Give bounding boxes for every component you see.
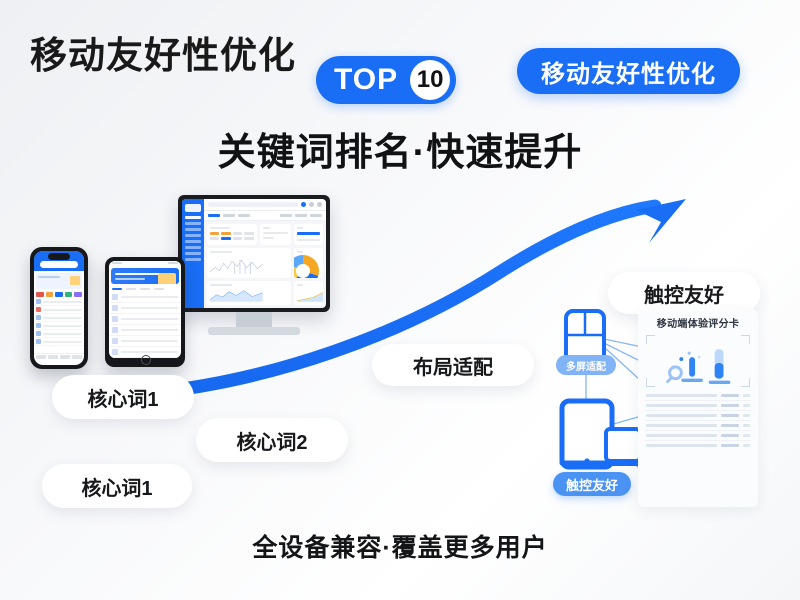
score-card-illustration <box>646 335 750 387</box>
page-title: 移动友好性优化 <box>30 25 296 79</box>
dashboard-card <box>294 224 323 245</box>
top-rank-badge: TOP 10 <box>316 56 456 104</box>
phone-search-bar <box>40 261 78 268</box>
dashboard-filterbar <box>204 211 326 221</box>
dashboard-area-card <box>294 281 323 305</box>
tablet-banner <box>111 268 179 284</box>
dashboard-chart-card <box>207 248 291 278</box>
phone-icon-row <box>34 291 84 298</box>
score-card-row <box>645 421 751 431</box>
footer-tagline: 全设备兼容·覆盖更多用户 <box>0 528 800 564</box>
score-card-row <box>645 431 751 441</box>
monitor-stand-neck <box>236 312 272 328</box>
tablet-device-icon <box>105 257 185 367</box>
mobile-adaptation-diagram: 多屏适配 触控友好 移动端体验评分卡 <box>548 305 760 515</box>
mobile-score-card: 移动端体验评分卡 <box>638 309 758 507</box>
dashboard-donut-card <box>294 248 323 278</box>
phone-tabbar <box>34 353 84 365</box>
phone-notch <box>48 253 70 260</box>
keyword-pill-1: 核心词1 <box>52 375 194 419</box>
keyword-pill-3: 核心词1 <box>42 464 192 508</box>
score-card-row <box>645 411 751 421</box>
phone-promo-card <box>36 273 82 289</box>
top-badge-number: 10 <box>410 60 450 100</box>
feature-pill-layout: 布局适配 <box>372 344 534 386</box>
poster-canvas: 移动友好性优化 TOP 10 移动友好性优化 关键词排名·快速提升 <box>0 0 800 600</box>
device-mockup-group <box>30 195 330 385</box>
keyword-pill-2: 核心词2 <box>196 418 348 462</box>
score-card-title: 移动端体验评分卡 <box>645 315 751 330</box>
smartphone-device-icon <box>30 247 88 369</box>
page-subtitle: 关键词排名·快速提升 <box>0 121 800 176</box>
dashboard-card <box>207 224 257 245</box>
monitor-stand-base <box>208 327 300 335</box>
dashboard-card <box>260 224 291 245</box>
top-badge-word: TOP <box>334 63 410 97</box>
dashboard-area-card <box>207 281 291 305</box>
desktop-monitor-icon <box>178 195 330 337</box>
mobile-friendly-tag: 移动友好性优化 <box>517 48 740 94</box>
diagram-label-multiscreen: 多屏适配 <box>556 355 616 375</box>
score-card-row <box>645 401 751 411</box>
score-card-row <box>645 391 751 401</box>
dashboard-sidebar <box>182 199 204 308</box>
diagram-label-touchfriendly: 触控友好 <box>553 472 631 496</box>
dashboard-topbar <box>204 199 326 211</box>
donut-chart <box>294 255 319 278</box>
score-card-row <box>645 441 751 450</box>
tablet-home-button <box>141 355 151 365</box>
